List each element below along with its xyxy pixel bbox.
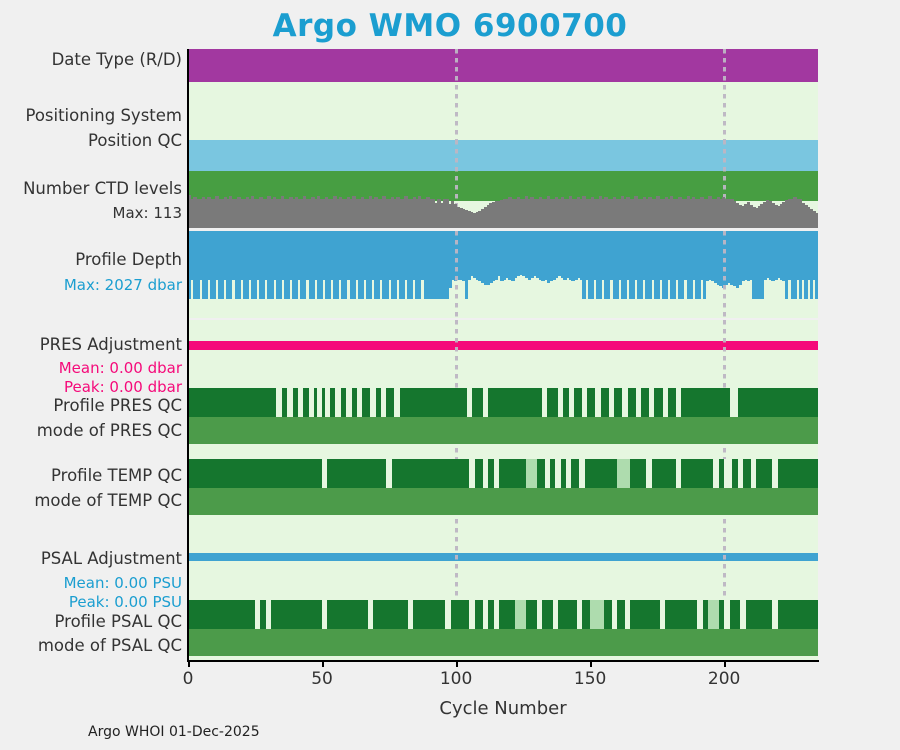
grid-line <box>723 320 726 388</box>
qc-gap <box>255 600 260 629</box>
qc-gap <box>708 600 719 629</box>
x-tick <box>456 660 458 667</box>
qc-gap <box>309 388 314 417</box>
qc-gap <box>724 600 729 629</box>
panel-ctd-levels <box>188 163 818 228</box>
row-label-ctd-levels: Number CTD levels <box>0 179 182 199</box>
qc-gap <box>569 388 574 417</box>
qc-gap <box>515 600 526 629</box>
qc-gap <box>772 459 777 488</box>
qc-gap <box>386 459 391 488</box>
row-sublabel-temp-qc-mode: mode of TEMP QC <box>0 491 182 511</box>
qc-gap <box>649 388 654 417</box>
panel-gap-1 <box>188 448 818 459</box>
qc-gap <box>566 459 571 488</box>
grid-line <box>723 231 726 318</box>
qc-gap <box>724 459 732 488</box>
row-label-pres-qc: Profile PRES QC <box>0 396 182 416</box>
qc-gap <box>609 388 614 417</box>
profile-pres-qc-band <box>188 388 818 417</box>
qc-gap <box>483 459 488 488</box>
x-tick <box>590 660 592 667</box>
grid-line <box>723 519 726 600</box>
qc-gap <box>713 459 718 488</box>
qc-gap <box>646 459 651 488</box>
grid-line <box>455 49 458 140</box>
argo-figure: Argo WMO 6900700 Date Type (R/D) Positio… <box>0 0 900 750</box>
qc-gap <box>660 600 665 629</box>
qc-gap <box>483 388 488 417</box>
row-sublabel-psal-mean: Mean: 0.00 PSU <box>0 573 182 593</box>
qc-gap <box>738 459 743 488</box>
qc-gap <box>469 459 474 488</box>
qc-gap <box>582 388 587 417</box>
qc-gap <box>445 600 450 629</box>
qc-gap <box>346 388 351 417</box>
qc-gap <box>622 388 627 417</box>
qc-gap <box>577 600 582 629</box>
x-tick-label: 100 <box>440 669 472 689</box>
qc-gap <box>494 600 499 629</box>
panel-date-type <box>188 49 818 140</box>
qc-gap <box>276 388 281 417</box>
qc-gap <box>545 459 550 488</box>
qc-gap <box>298 388 303 417</box>
grid-line <box>723 448 726 459</box>
qc-gap <box>322 459 327 488</box>
qc-gap <box>740 600 745 629</box>
qc-gap <box>469 600 474 629</box>
figure-credit: Argo WHOI 01-Dec-2025 <box>88 724 260 740</box>
qc-gap <box>266 600 271 629</box>
mode-pres-qc-band <box>188 417 818 444</box>
row-label-psal-qc: Profile PSAL QC <box>0 612 182 632</box>
page-title: Argo WMO 6900700 <box>0 8 900 44</box>
grid-line <box>723 49 726 140</box>
x-tick <box>188 660 190 667</box>
qc-gap <box>357 388 362 417</box>
profile-temp-qc-band <box>188 459 818 488</box>
row-sublabel-psal-peak: Peak: 0.00 PSU <box>0 592 182 612</box>
x-tick <box>724 660 726 667</box>
row-sublabel-depth-max: Max: 2027 dbar <box>0 275 182 295</box>
qc-gap <box>590 600 603 629</box>
qc-gap <box>772 600 777 629</box>
qc-gap <box>636 388 641 417</box>
grid-line <box>455 320 458 388</box>
qc-gap <box>730 388 738 417</box>
grid-line <box>455 448 458 459</box>
grid-line <box>455 519 458 600</box>
x-axis-label: Cycle Number <box>188 698 818 719</box>
row-sublabel-ctd-max: Max: 113 <box>0 203 182 223</box>
qc-gap <box>408 600 413 629</box>
profile-psal-qc-band <box>188 600 818 629</box>
qc-gap <box>697 600 702 629</box>
qc-gap <box>317 388 322 417</box>
mode-psal-qc-band <box>188 629 818 656</box>
row-label-date-type: Date Type (R/D) <box>0 50 182 70</box>
qc-gap <box>335 388 340 417</box>
qc-gap <box>483 600 488 629</box>
row-label-positioning: Positioning System <box>0 106 182 126</box>
qc-gap <box>625 600 630 629</box>
ctd-level-bar <box>815 213 818 228</box>
panel-psal-qc <box>188 600 818 660</box>
qc-gap <box>663 388 668 417</box>
qc-gap <box>751 459 756 488</box>
row-label-psal-adjustment: PSAL Adjustment <box>0 549 182 569</box>
panel-profile-depth <box>188 231 818 318</box>
qc-gap <box>325 388 330 417</box>
panel-temp-qc <box>188 459 818 519</box>
row-sublabel-pres-mean: Mean: 0.00 dbar <box>0 358 182 378</box>
x-tick-label: 200 <box>708 669 740 689</box>
row-label-profile-depth: Profile Depth <box>0 250 182 270</box>
row-sublabel-pres-qc-mode: mode of PRES QC <box>0 421 182 441</box>
panel-pres-qc <box>188 388 818 448</box>
row-label-temp-qc: Profile TEMP QC <box>0 466 182 486</box>
row-sublabel-pres-peak: Peak: 0.00 dbar <box>0 377 182 397</box>
x-tick <box>322 660 324 667</box>
profile-depth-bar <box>815 231 818 299</box>
x-tick-label: 0 <box>183 669 194 689</box>
qc-gap <box>558 388 563 417</box>
qc-gap <box>555 459 560 488</box>
row-sublabel-psal-qc-mode: mode of PSAL QC <box>0 636 182 656</box>
grid-line <box>455 231 458 318</box>
qc-gap <box>579 459 584 488</box>
row-label-pres-adjustment: PRES Adjustment <box>0 335 182 355</box>
y-axis-spine <box>187 49 189 660</box>
qc-gap <box>553 600 558 629</box>
qc-gap <box>612 600 617 629</box>
panel-pres-adjustment <box>188 320 818 388</box>
qc-gap <box>595 388 600 417</box>
qc-gap <box>322 600 327 629</box>
panel-psal-adjustment <box>188 519 818 600</box>
qc-gap <box>537 600 542 629</box>
qc-gap <box>368 600 373 629</box>
x-tick-label: 50 <box>311 669 333 689</box>
row-label-position-qc: Position QC <box>0 131 182 151</box>
x-tick-label: 150 <box>574 669 606 689</box>
qc-gap <box>542 388 547 417</box>
mode-temp-qc-band <box>188 488 818 515</box>
qc-gap <box>617 459 630 488</box>
qc-gap <box>381 388 386 417</box>
qc-gap <box>676 388 681 417</box>
qc-gap <box>676 459 681 488</box>
qc-gap <box>526 459 537 488</box>
qc-gap <box>467 388 472 417</box>
qc-gap <box>494 459 499 488</box>
qc-gap <box>370 388 375 417</box>
qc-gap <box>394 388 399 417</box>
qc-gap <box>287 388 292 417</box>
